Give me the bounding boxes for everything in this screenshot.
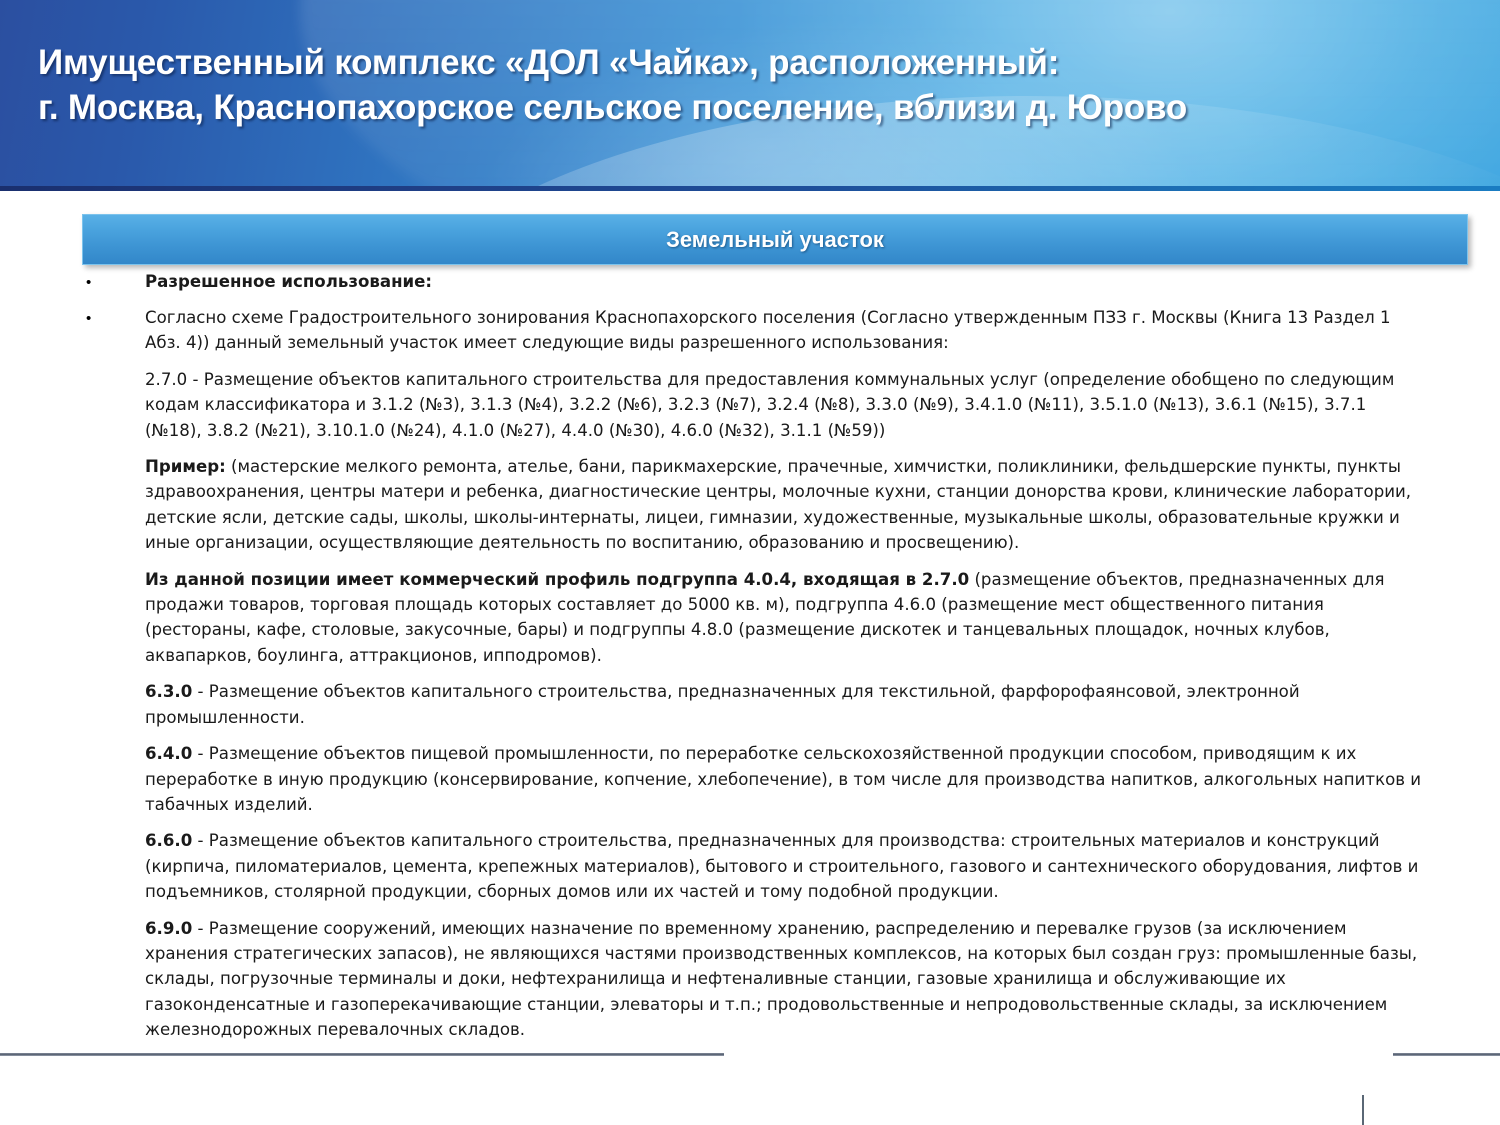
code-4-0-4-label: Из данной позиции имеет коммерческий про… — [145, 570, 969, 589]
permitted-use-heading: Разрешенное использование: — [145, 269, 1470, 294]
code-6-6-0-label: 6.6.0 — [145, 831, 192, 850]
example-label: Пример: — [145, 457, 226, 476]
code-6-6-0-body: - Размещение объектов капитального строи… — [145, 831, 1418, 901]
paragraph-code-6-4-0: 6.4.0 - Размещение объектов пищевой пром… — [0, 741, 1500, 817]
code-6-3-0-body: - Размещение объектов капитального строи… — [145, 682, 1300, 726]
footer-tick-mark — [1362, 1095, 1364, 1125]
section-header-title: Земельный участок — [666, 227, 884, 253]
bullet-dot-icon: • — [86, 306, 91, 332]
code-6-4-0-label: 6.4.0 — [145, 744, 192, 763]
paragraph-example: Пример: (мастерские мелкого ремонта, ате… — [0, 454, 1500, 556]
paragraph-code-2-7-0: 2.7.0 - Размещение объектов капитального… — [0, 367, 1500, 443]
bullet-item-zoning-scheme: • Согласно схеме Градостроительного зони… — [0, 305, 1500, 356]
bullet-marker: • — [0, 305, 145, 332]
code-6-3-0-label: 6.3.0 — [145, 682, 192, 701]
code-6-9-0-label: 6.9.0 — [145, 919, 192, 938]
title-banner: Имущественный комплекс «ДОЛ «Чайка», рас… — [0, 0, 1500, 191]
page-title: Имущественный комплекс «ДОЛ «Чайка», рас… — [38, 40, 1468, 130]
code-2-7-0-text: 2.7.0 - Размещение объектов капитального… — [145, 370, 1394, 440]
section-header-bar: Земельный участок — [82, 214, 1468, 265]
example-body: (мастерские мелкого ремонта, ателье, бан… — [145, 457, 1411, 552]
bullet-dot-icon: • — [86, 270, 91, 296]
footer-rule-right — [1393, 1053, 1500, 1056]
paragraph-code-6-9-0: 6.9.0 - Размещение сооружений, имеющих н… — [0, 916, 1500, 1043]
zoning-scheme-paragraph: Согласно схеме Градостроительного зониро… — [145, 305, 1470, 356]
bullet-item-permitted-use: • Разрешенное использование: — [0, 269, 1500, 296]
paragraph-code-4-0-4: Из данной позиции имеет коммерческий про… — [0, 567, 1500, 669]
slide-body: • Разрешенное использование: • Согласно … — [0, 269, 1500, 1043]
code-6-4-0-body: - Размещение объектов пищевой промышленн… — [145, 744, 1421, 814]
banner-bottom-edge — [0, 186, 1500, 191]
bullet-marker: • — [0, 269, 145, 296]
paragraph-code-6-3-0: 6.3.0 - Размещение объектов капитального… — [0, 679, 1500, 730]
code-6-9-0-body: - Размещение сооружений, имеющих назначе… — [145, 919, 1417, 1040]
paragraph-code-6-6-0: 6.6.0 - Размещение объектов капитального… — [0, 828, 1500, 904]
footer-rule-left — [0, 1053, 724, 1056]
